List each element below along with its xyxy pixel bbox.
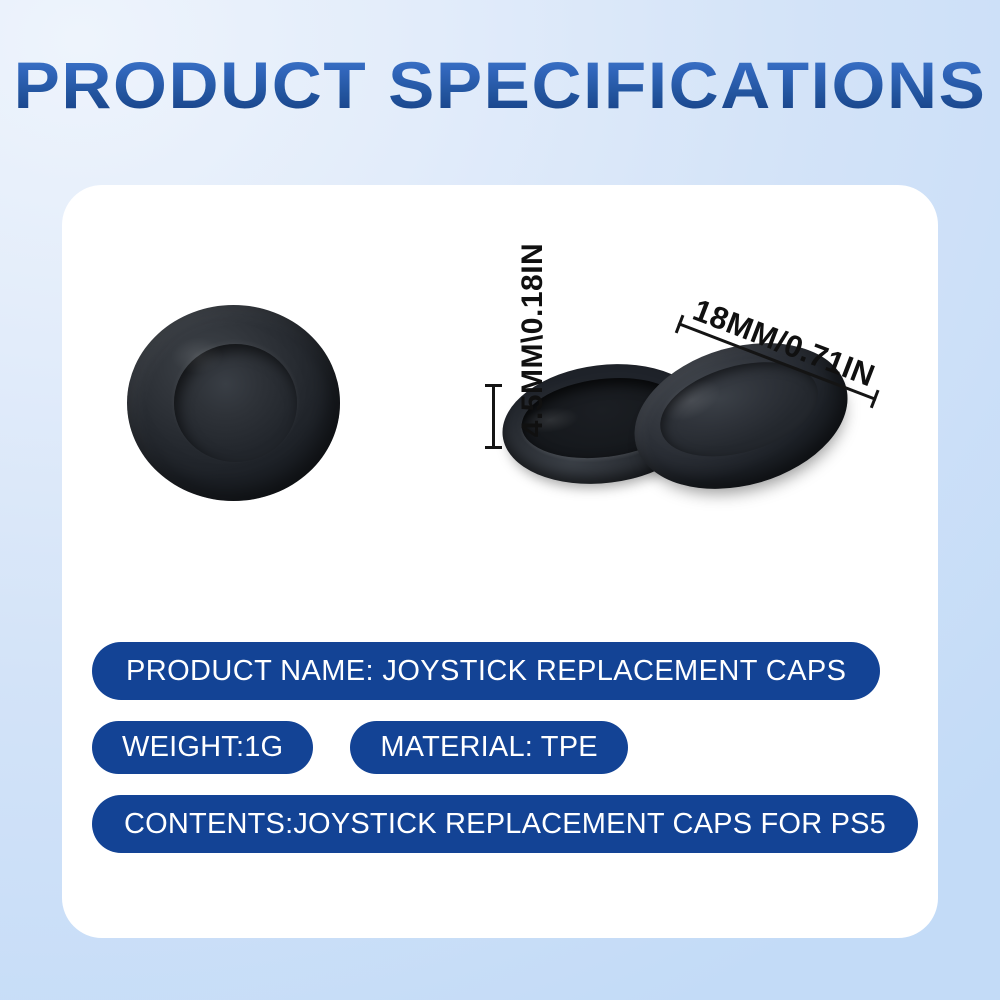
thickness-dimension-label: 4.5MM\0.18IN <box>516 243 550 437</box>
page-title: PRODUCT SPECIFICATIONS <box>0 52 1000 118</box>
thickness-dimension-cap-bottom <box>485 446 502 449</box>
content-card: 4.5MM\0.18IN 18MM/0.71IN PRODUCT NAME: J… <box>62 185 938 938</box>
spec-badge-material: MATERIAL: TPE <box>350 721 627 774</box>
spec-row: CONTENTS:JOYSTICK REPLACEMENT CAPS FOR P… <box>92 795 922 853</box>
product-spec-page: PRODUCT SPECIFICATIONS 4.5 <box>0 0 1000 1000</box>
thickness-dimension-line <box>492 385 495 448</box>
product-image-stage: 4.5MM\0.18IN 18MM/0.71IN <box>62 185 938 655</box>
spec-badge-product-name: PRODUCT NAME: JOYSTICK REPLACEMENT CAPS <box>92 642 880 700</box>
spec-badge-weight: WEIGHT:1G <box>92 721 313 774</box>
spec-badge-contents: CONTENTS:JOYSTICK REPLACEMENT CAPS FOR P… <box>92 795 918 853</box>
spec-row: WEIGHT:1G MATERIAL: TPE <box>92 721 922 774</box>
cap-top-view-image <box>127 305 340 501</box>
specification-list: PRODUCT NAME: JOYSTICK REPLACEMENT CAPS … <box>92 642 922 874</box>
spec-row: PRODUCT NAME: JOYSTICK REPLACEMENT CAPS <box>92 642 922 700</box>
thickness-dimension-cap-top <box>485 384 502 387</box>
